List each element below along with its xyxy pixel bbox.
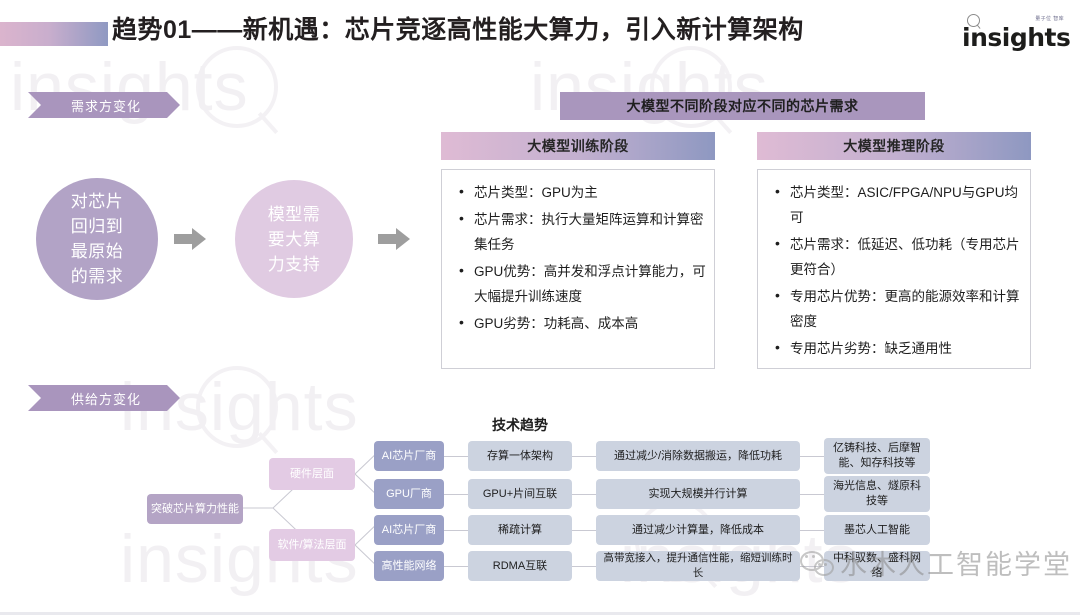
tree-node-branch-hardware: 硬件层面 [269,458,355,490]
tree-node-companies: 墨芯人工智能 [824,515,930,545]
panel-bullets-training: 芯片类型：GPU为主 芯片需求：执行大量矩阵运算和计算密集任务 GPU优势：高并… [456,180,706,338]
title-accent-swatch [0,22,108,46]
bullet-item: 芯片类型：GPU为主 [472,180,706,205]
tag-demand-side: 需求方变化 [28,92,180,118]
panel-header-inference: 大模型推理阶段 [757,132,1031,160]
bullet-item: GPU劣势：功耗高、成本高 [472,311,706,336]
tag-supply-side: 供给方变化 [28,385,180,411]
tree-node-vendor: GPU厂商 [374,479,444,509]
tree-connector [572,494,596,495]
wechat-icon [800,549,834,577]
brand-logo: 量子位 智库 insights [962,14,1066,52]
bullet-item: 专用芯片优势：更高的能源效率和计算密度 [788,284,1024,334]
circle-chip-demand: 对芯片 回归到 最原始 的需求 [36,178,158,300]
brand-wordmark: insights [962,23,1070,52]
tree-connector [800,456,824,457]
tree-connector [572,456,596,457]
tree-connector [572,566,596,567]
tree-connector [800,494,824,495]
wechat-account-name: 水木人工智能学堂 [840,543,1072,582]
tree-node-description: 实现大规模并行计算 [596,479,800,509]
tree-node-vendor: 高性能网络 [374,551,444,581]
tree-connector [572,530,596,531]
tree-node-vendor: AI芯片厂商 [374,515,444,545]
tree-node-companies: 海光信息、燧原科技等 [824,476,930,512]
banner-stage-requirements: 大模型不同阶段对应不同的芯片需求 [560,92,925,120]
tree-node-branch-software: 软件/算法层面 [269,529,355,561]
tree-node-tech: GPU+片间互联 [468,479,572,509]
watermark-ring-icon [196,366,278,448]
bullet-item: 芯片需求：执行大量矩阵运算和计算密集任务 [472,207,706,257]
tree-connector [444,494,468,495]
bullet-item: 芯片类型：ASIC/FPGA/NPU与GPU均可 [788,180,1024,230]
tree-connector [444,456,468,457]
circle-model-compute-label: 模型需 要大算 力支持 [268,202,321,277]
tree-connector [444,566,468,567]
tree-node-root: 突破芯片算力性能 [147,494,243,524]
tree-node-description: 通过减少/消除数据搬运，降低功耗 [596,441,800,471]
tree-node-tech: 存算一体架构 [468,441,572,471]
tree-node-vendor: AI芯片厂商 [374,441,444,471]
arrow-right-icon [378,228,410,250]
tree-node-description: 高带宽接入，提升通信性能，缩短训练时长 [596,551,800,581]
circle-model-compute: 模型需 要大算 力支持 [235,180,353,298]
tree-node-description: 通过减少计算量，降低成本 [596,515,800,545]
arrow-right-icon [174,228,206,250]
tree-node-tech: RDMA互联 [468,551,572,581]
tree-title: 技术趋势 [492,415,548,435]
tree-connector [800,530,824,531]
tree-connector [444,530,468,531]
tree-node-tech: 稀疏计算 [468,515,572,545]
brand-subtitle: 量子位 智库 [1035,15,1064,22]
bullet-item: GPU优势：高并发和浮点计算能力，可大幅提升训练速度 [472,259,706,309]
circle-chip-demand-label: 对芯片 回归到 最原始 的需求 [71,189,124,289]
tree-node-companies: 亿铸科技、后摩智能、知存科技等 [824,438,930,474]
panel-bullets-inference: 芯片类型：ASIC/FPGA/NPU与GPU均可 芯片需求：低延迟、低功耗（专用… [772,180,1024,363]
page-title: 趋势01——新机遇：芯片竞逐高性能大算力，引入新计算架构 [112,10,804,46]
wechat-account-watermark: 水木人工智能学堂 [800,543,1072,582]
bullet-item: 专用芯片劣势：缺乏通用性 [788,336,1024,361]
panel-header-training: 大模型训练阶段 [441,132,715,160]
bullet-item: 芯片需求：低延迟、低功耗（专用芯片更符合） [788,232,1024,282]
slide-header: 趋势01——新机遇：芯片竞逐高性能大算力，引入新计算架构 量子位 智库 insi… [0,0,1080,62]
